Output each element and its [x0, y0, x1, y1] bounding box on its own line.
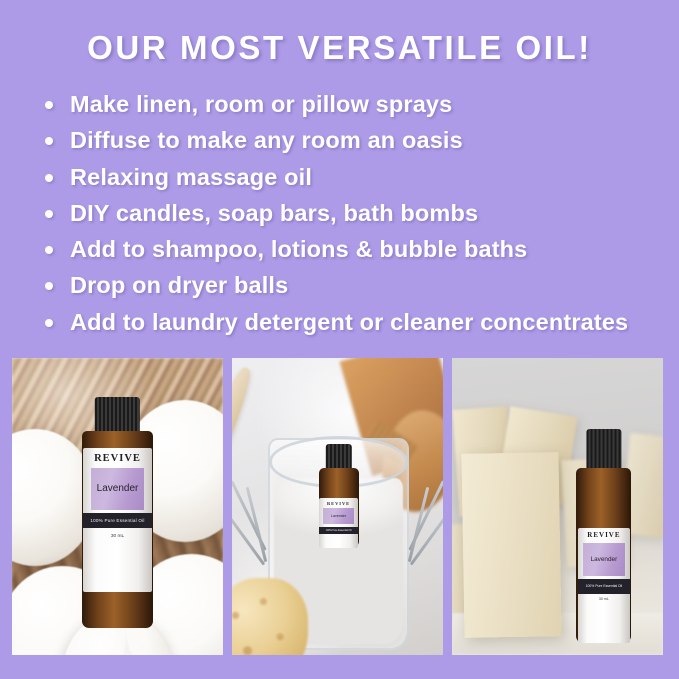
promo-poster: OUR MOST VERSATILE OIL! Make linen, room…: [0, 0, 679, 679]
bottle-volume-text: 30 mL: [111, 534, 124, 539]
list-item: Drop on dryer balls: [40, 267, 670, 303]
bottle-scent-chip: Lavender: [91, 468, 145, 510]
bullet-dot-icon: [45, 246, 53, 254]
bottle-label: REVIVE Lavender 100% Pure Essential Oil …: [83, 448, 152, 592]
bottle-label: REVIVE Lavender 100% Pure Essential Oil …: [578, 528, 631, 643]
bottle-volume-text: 30 mL: [599, 597, 609, 601]
list-item-label: Diffuse to make any room an oasis: [70, 127, 463, 153]
bottle-descriptor-strip: 100% Pure Essential Oil: [578, 579, 631, 593]
soap-bar: [461, 452, 561, 638]
bullet-dot-icon: [45, 319, 53, 327]
bullet-dot-icon: [45, 174, 53, 182]
bullet-dot-icon: [45, 282, 53, 290]
bottle-descriptor-strip: 100% Pure Essential Oil: [319, 527, 357, 535]
bottle-scent-chip: Lavender: [323, 508, 355, 524]
bottle-descriptor-strip: 100% Pure Essential Oil: [83, 513, 152, 528]
bullet-dot-icon: [45, 210, 53, 218]
product-photo-dryer-balls: REVIVE Lavender 100% Pure Essential Oil …: [12, 358, 223, 655]
bottle-label: REVIVE Lavender 100% Pure Essential Oil …: [319, 498, 357, 548]
list-item-label: Make linen, room or pillow sprays: [70, 91, 452, 117]
list-item-label: Add to shampoo, lotions & bubble baths: [70, 236, 527, 262]
bottle-brand-text: REVIVE: [587, 531, 620, 539]
list-item: Add to laundry detergent or cleaner conc…: [40, 304, 670, 340]
bullet-dot-icon: [45, 137, 53, 145]
list-item-label: DIY candles, soap bars, bath bombs: [70, 200, 478, 226]
bottle-scent-chip: Lavender: [583, 543, 625, 576]
list-item-label: Add to laundry detergent or cleaner conc…: [70, 309, 628, 335]
page-title: OUR MOST VERSATILE OIL!: [0, 28, 679, 68]
list-item: Add to shampoo, lotions & bubble baths: [40, 231, 670, 267]
bottle-cap-icon: [95, 397, 139, 436]
essential-oil-bottle: REVIVE Lavender 100% Pure Essential Oil …: [576, 429, 631, 643]
list-item: Relaxing massage oil: [40, 159, 670, 195]
list-item: Make linen, room or pillow sprays: [40, 86, 670, 122]
list-item-label: Relaxing massage oil: [70, 164, 312, 190]
essential-oil-bottle: REVIVE Lavender 100% Pure Essential Oil …: [319, 444, 359, 548]
bottle-brand-text: REVIVE: [94, 453, 141, 465]
bottle-brand-text: REVIVE: [327, 501, 350, 506]
benefits-list: Make linen, room or pillow sprays Diffus…: [40, 86, 670, 340]
product-photo-soap-bars: REVIVE Lavender 100% Pure Essential Oil …: [452, 358, 663, 655]
bullet-dot-icon: [45, 101, 53, 109]
product-photo-bath-salts: REVIVE Lavender 100% Pure Essential Oil …: [232, 358, 443, 655]
list-item-label: Drop on dryer balls: [70, 272, 288, 298]
bottle-cap-icon: [586, 429, 621, 472]
natural-sponge: [232, 578, 308, 655]
list-item: DIY candles, soap bars, bath bombs: [40, 195, 670, 231]
product-photo-strip: REVIVE Lavender 100% Pure Essential Oil …: [12, 358, 663, 655]
list-item: Diffuse to make any room an oasis: [40, 122, 670, 158]
essential-oil-bottle: REVIVE Lavender 100% Pure Essential Oil …: [82, 397, 154, 629]
